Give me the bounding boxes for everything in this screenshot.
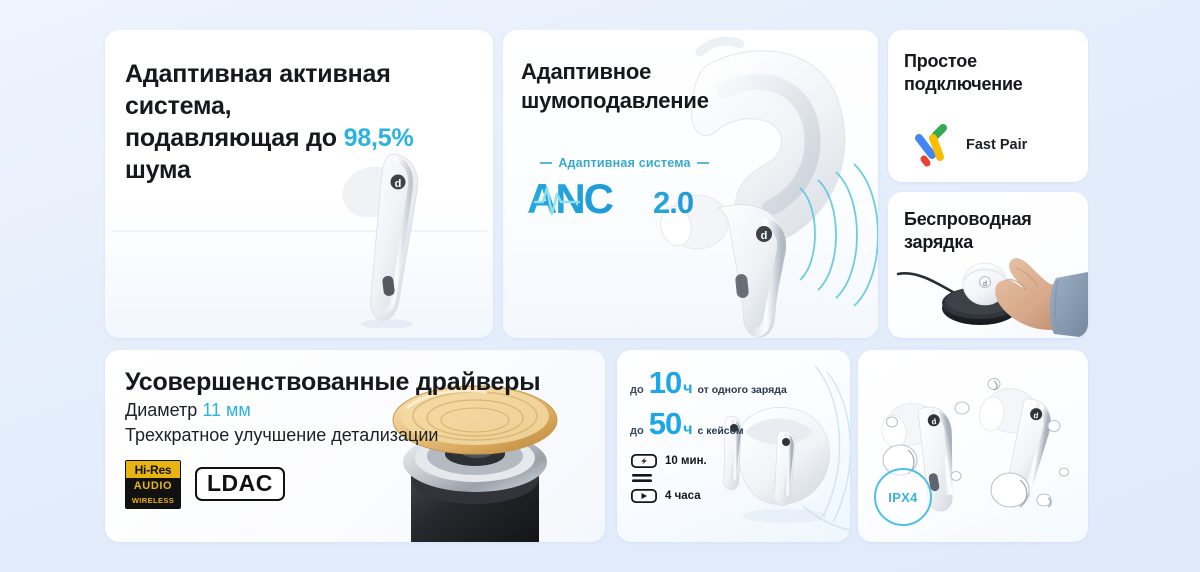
- anc2-logo-kicker: Адаптивная система: [517, 156, 732, 170]
- hi-res-badge-line2: AUDIO: [126, 478, 180, 495]
- fast-charge-icon: [631, 454, 657, 468]
- quick-charge-time: 10 мин.: [665, 455, 707, 467]
- battery-line2-label: с кейсом: [697, 425, 743, 437]
- anc2-kicker-text: Адаптивная система: [558, 156, 690, 170]
- battery-line1-label: от одного заряда: [697, 384, 786, 396]
- ipx4-badge: IPX4: [874, 468, 932, 526]
- audio-certification-badges: Hi-Res AUDIO WIRELESS LDAC: [125, 460, 285, 509]
- playback-row: 4 часа: [631, 485, 707, 507]
- wireless-heading-line1: Беспроводная: [904, 208, 1032, 231]
- play-icon: [631, 489, 657, 503]
- card-battery-life: до 10 ч от одного заряда до 50 ч с кейсо…: [617, 350, 850, 542]
- anc2-version-letters: 2.0: [653, 185, 693, 220]
- battery-line2-unit: ч: [683, 421, 692, 439]
- card-wireless-charging: d Беспроводная зарядка: [888, 192, 1088, 338]
- anc2-heading-line1: Адаптивное: [521, 58, 751, 87]
- feature-grid: d Адаптивная активная система, подавляющ…: [0, 0, 1200, 572]
- svg-text:d: d: [761, 230, 768, 242]
- anc-percent-prefix: подавляющая до: [125, 124, 344, 152]
- kicker-dash-right: [697, 162, 709, 164]
- drivers-diameter-prefix: Диаметр: [125, 400, 202, 420]
- fast-pair-heading-line1: Простое: [904, 50, 1023, 73]
- anc2-logo: Адаптивная система ANC 2.0: [517, 156, 732, 229]
- anc2-heading-line2: шумоподавление: [521, 87, 751, 116]
- anc2-text: Адаптивное шумоподавление: [521, 58, 751, 115]
- wireless-charging-text: Беспроводная зарядка: [904, 208, 1032, 254]
- ldac-badge: LDAC: [195, 467, 285, 501]
- anc-percent-heading-line1: Адаптивная активная система,: [125, 58, 475, 122]
- fast-pair-label: Fast Pair: [966, 137, 1027, 153]
- drivers-diameter-value: 11 мм: [202, 400, 250, 420]
- battery-line1-unit: ч: [683, 380, 692, 398]
- fast-pair-heading-line2: подключение: [904, 73, 1023, 96]
- card-upgraded-drivers: Усовершенствованные драйверы Диаметр 11 …: [105, 350, 605, 542]
- anc-percent-text: Адаптивная активная система, подавляющая…: [125, 58, 475, 186]
- anc-percent-heading-line2: подавляющая до 98,5% шума: [125, 122, 475, 186]
- battery-with-case-line: до 50 ч с кейсом: [630, 408, 744, 439]
- ldac-badge-label: LDAC: [207, 470, 273, 496]
- battery-line2-value: 50: [649, 408, 681, 439]
- ipx4-badge-label: IPX4: [888, 490, 917, 505]
- card-adaptive-anc-percent: d Адаптивная активная система, подавляющ…: [105, 30, 493, 338]
- quick-charge-rows: 10 мин. 4 часа: [631, 450, 707, 507]
- card-adaptive-noise-cancelling: d Адаптивное шумоподавление Адаптивная с…: [503, 30, 878, 338]
- anc-percent-value: 98,5%: [344, 124, 414, 152]
- card-water-resistance: d d: [858, 350, 1088, 542]
- playback-time: 4 часа: [665, 490, 701, 502]
- fast-pair-text: Простое подключение: [904, 50, 1023, 96]
- hi-res-audio-wireless-badge: Hi-Res AUDIO WIRELESS: [125, 460, 181, 509]
- svg-text:d: d: [983, 281, 987, 288]
- anc-percent-suffix: шума: [125, 156, 191, 184]
- anc2-letters: ANC: [527, 175, 614, 222]
- fast-pair-brand-row: Fast Pair: [910, 122, 1027, 168]
- battery-line2-prefix: до: [630, 425, 644, 437]
- anc2-wordmark: ANC 2.0: [525, 172, 725, 224]
- kicker-dash-left: [540, 162, 552, 164]
- battery-line1-value: 10: [649, 367, 681, 398]
- card-fast-pair: Простое подключение Fast Pair: [888, 30, 1088, 182]
- google-fast-pair-icon: [910, 122, 956, 168]
- wireless-heading-line2: зарядка: [904, 231, 1032, 254]
- drivers-detail-line: Трехкратное улучшение детализации: [125, 423, 540, 448]
- drivers-heading: Усовершенствованные драйверы: [125, 366, 540, 398]
- drivers-diameter-line: Диаметр 11 мм: [125, 398, 540, 423]
- drivers-text: Усовершенствованные драйверы Диаметр 11 …: [125, 366, 540, 448]
- equals-icon: [632, 473, 654, 484]
- hi-res-badge-line3: WIRELESS: [126, 495, 180, 508]
- battery-single-charge-line: до 10 ч от одного заряда: [630, 367, 787, 398]
- hi-res-badge-line1: Hi-Res: [126, 461, 180, 478]
- quick-charge-row: 10 мин.: [631, 450, 707, 472]
- battery-line1-prefix: до: [630, 384, 644, 396]
